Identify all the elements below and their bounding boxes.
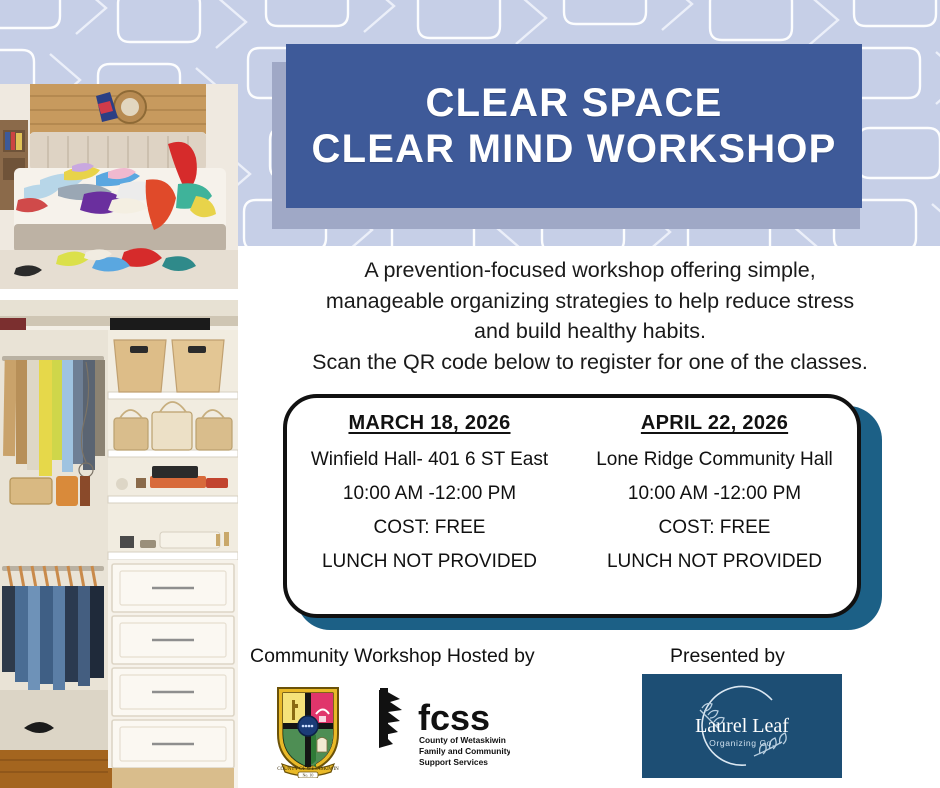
- fcss-sub-line-3: Support Services: [419, 757, 488, 767]
- presented-by-label: Presented by: [670, 645, 785, 668]
- title-line-1: CLEAR SPACE: [311, 80, 836, 126]
- session-date: APRIL 22, 2026: [641, 412, 788, 435]
- fcss-sub-line-2: Family and Community: [419, 746, 510, 756]
- page-title: CLEAR SPACE CLEAR MIND WORKSHOP: [311, 80, 836, 173]
- fcss-mark-icon: [379, 688, 402, 748]
- session-lunch: LUNCH NOT PROVIDED: [322, 552, 537, 573]
- fcss-sub-line-1: County of Wetaskiwin: [419, 735, 506, 745]
- description-line-4: Scan the QR code below to register for o…: [250, 347, 930, 378]
- hosted-by-label: Community Workshop Hosted by: [250, 645, 535, 668]
- laurel-leaf-logo: Laurel Leaf Organizing Co.: [642, 674, 842, 778]
- messy-bedroom-photo: [0, 84, 238, 289]
- session-column-1: MARCH 18, 2026 Winfield Hall- 401 6 ST E…: [287, 398, 572, 614]
- description-block: A prevention-focused workshop offering s…: [250, 255, 930, 377]
- session-venue: Winfield Hall- 401 6 ST East: [311, 450, 548, 471]
- description-line-2: manageable organizing strategies to help…: [250, 286, 930, 317]
- laurel-name: Laurel Leaf: [695, 715, 789, 737]
- footer: Community Workshop Hosted by Presented b…: [238, 636, 940, 788]
- description-line-3: and build healthy habits.: [250, 316, 930, 347]
- session-time: 10:00 AM -12:00 PM: [628, 484, 801, 505]
- fcss-logo: fcss County of Wetaskiwin Family and Com…: [378, 686, 510, 772]
- laurel-tagline: Organizing Co.: [709, 738, 775, 748]
- fcss-wordmark: fcss: [418, 697, 490, 738]
- photo-column: [0, 0, 238, 788]
- session-time: 10:00 AM -12:00 PM: [343, 484, 516, 505]
- session-lunch: LUNCH NOT PROVIDED: [607, 552, 822, 573]
- title-line-2: CLEAR MIND WORKSHOP: [311, 126, 836, 172]
- session-venue: Lone Ridge Community Hall: [596, 450, 833, 471]
- session-column-2: APRIL 22, 2026 Lone Ridge Community Hall…: [572, 398, 857, 614]
- organized-closet-photo: [0, 300, 238, 788]
- session-cost: COST: FREE: [659, 518, 771, 539]
- title-banner: CLEAR SPACE CLEAR MIND WORKSHOP: [286, 44, 862, 208]
- session-date: MARCH 18, 2026: [348, 412, 510, 435]
- poster-canvas: CLEAR SPACE CLEAR MIND WORKSHOP A preven…: [0, 0, 940, 788]
- crest-motto: No. 10: [303, 773, 314, 778]
- details-card: MARCH 18, 2026 Winfield Hall- 401 6 ST E…: [283, 394, 861, 618]
- session-cost: COST: FREE: [374, 518, 486, 539]
- description-line-1: A prevention-focused workshop offering s…: [250, 255, 930, 286]
- crest-caption: COUNTY OF WETASKIWIN: [277, 767, 339, 772]
- county-crest-logo: COUNTY OF WETASKIWIN No. 10: [272, 680, 344, 778]
